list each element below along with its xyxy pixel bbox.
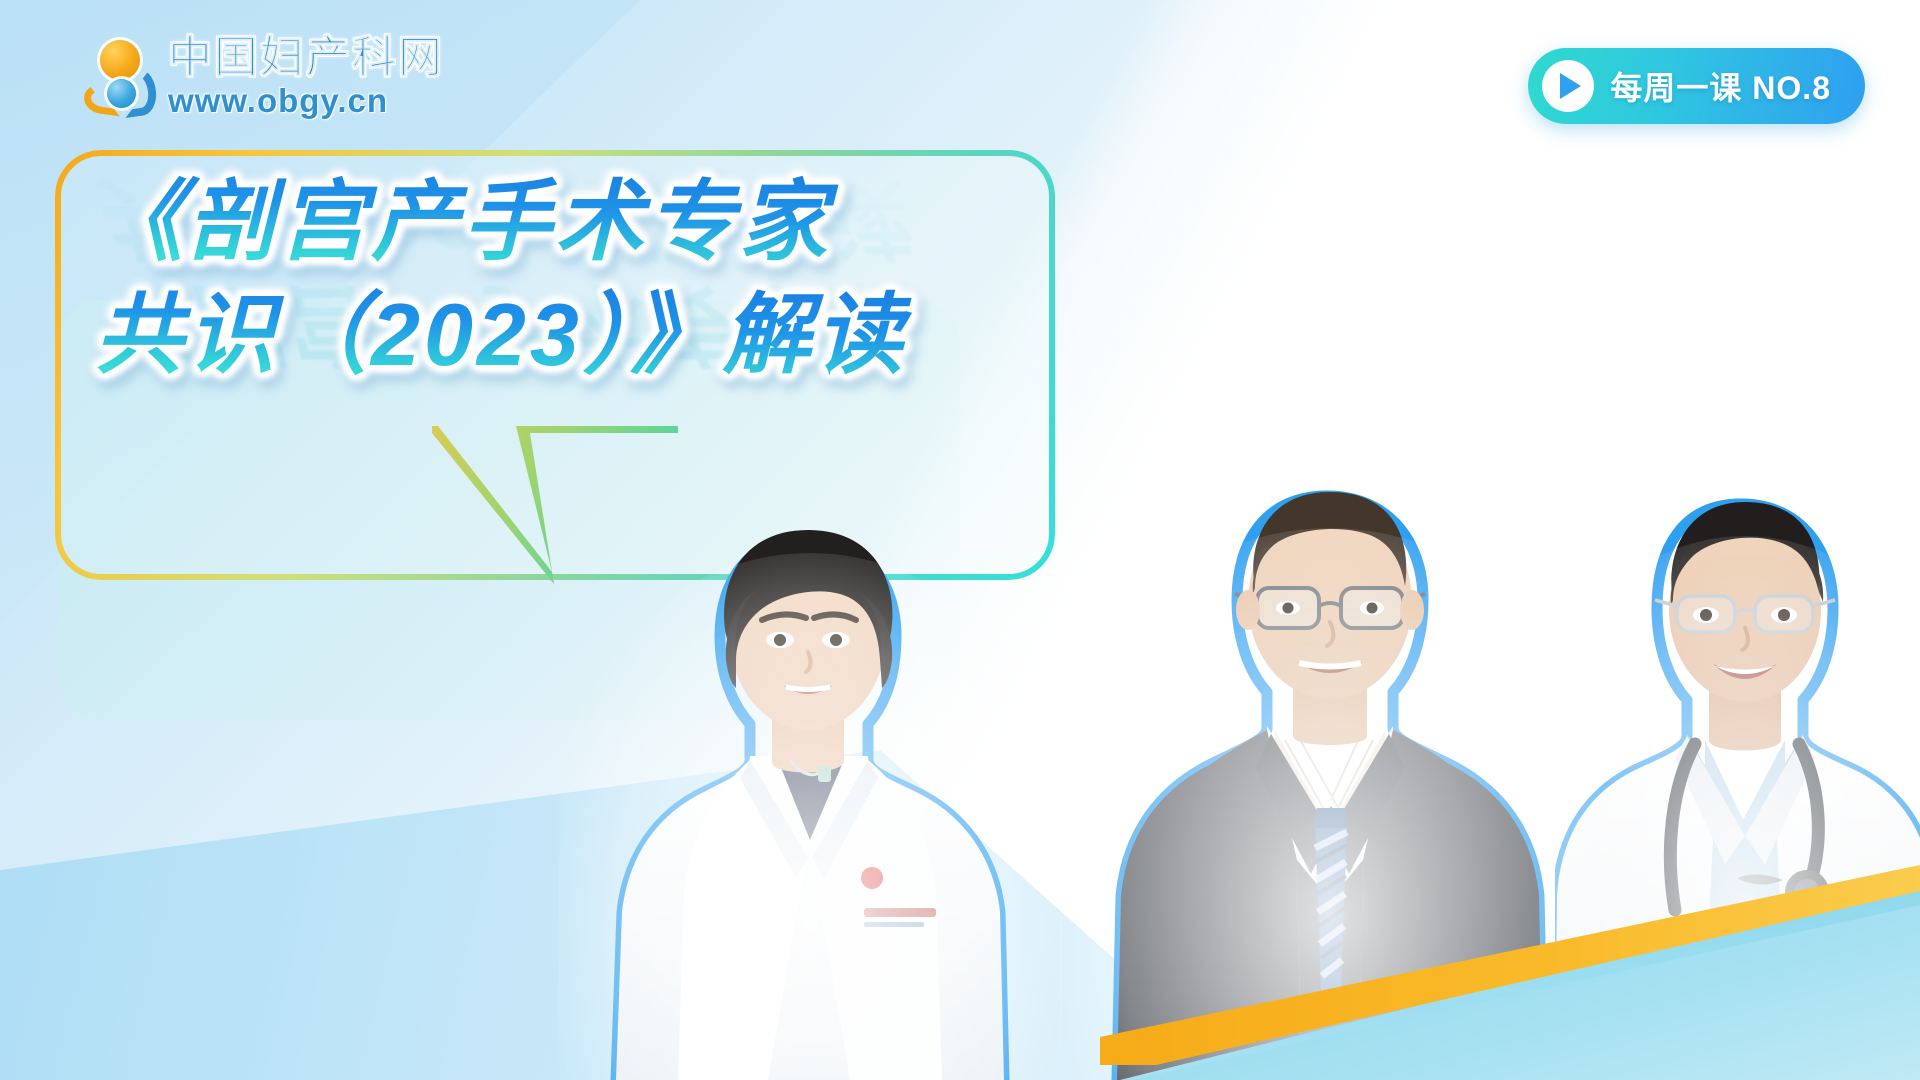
brand-logo[interactable]: 中国妇产科网 www.obgy.cn: [86, 36, 444, 117]
title-line-2: 共识（2023）》解读: [95, 281, 1025, 388]
obgy-logo-icon: [86, 38, 154, 116]
speaker-portrait-3: [1555, 440, 1920, 1080]
lesson-badge-label: 每周一课 NO.8: [1610, 63, 1831, 109]
brand-name-cn: 中国妇产科网: [168, 36, 444, 80]
brand-logo-text: 中国妇产科网 www.obgy.cn: [168, 36, 444, 117]
female-doctor-stethoscope-figure: [1555, 440, 1920, 1080]
female-doctor-white-coat-figure: [600, 460, 1020, 1080]
play-triangle: [1560, 73, 1581, 99]
lesson-badge[interactable]: 每周一课 NO.8: [1528, 48, 1865, 124]
speaker-portrait-1: [600, 460, 1020, 1080]
speaker-portrait-2: [1105, 430, 1555, 1080]
poster-canvas: 《剖宫产手术专家 共识（2023）》解读 《剖宫产手术专家 共识（2023）》解…: [0, 0, 1920, 1080]
brand-url: www.obgy.cn: [168, 84, 444, 117]
male-doctor-suit-figure: [1105, 430, 1555, 1080]
page-title: 《剖宫产手术专家 共识（2023）》解读: [95, 168, 1025, 389]
logo-blue-dot: [107, 79, 136, 108]
play-icon: [1542, 60, 1594, 112]
title-line-1: 《剖宫产手术专家: [95, 168, 1025, 275]
